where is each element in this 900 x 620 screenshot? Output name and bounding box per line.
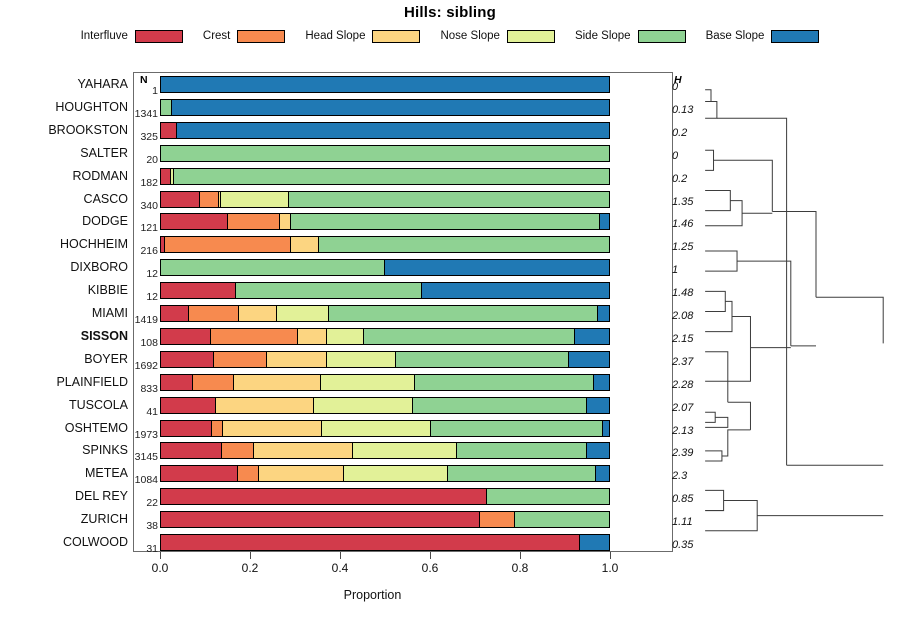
dendrogram-link xyxy=(705,412,715,422)
bar-segment xyxy=(327,352,396,367)
bar-segment xyxy=(161,306,189,321)
bar-segment xyxy=(161,77,609,92)
dendrogram-link xyxy=(728,402,751,430)
soil-series-label: DODGE xyxy=(0,214,128,228)
stacked-bar xyxy=(160,397,610,414)
stacked-bar xyxy=(160,534,610,551)
bar-segment xyxy=(228,214,280,229)
n-value: 31 xyxy=(128,543,158,555)
dendrogram-link xyxy=(705,191,730,211)
bar-segment xyxy=(291,214,600,229)
dendrogram-link xyxy=(772,212,816,298)
bar-segment xyxy=(580,535,609,550)
legend-item-label: Interfluve xyxy=(81,30,128,42)
bar-segment xyxy=(200,192,218,207)
legend-item-label: Base Slope xyxy=(706,30,765,42)
stacked-bar xyxy=(160,145,610,162)
bar-segment xyxy=(161,192,200,207)
soil-series-label: OSHTEMO xyxy=(0,421,128,435)
bar-segment xyxy=(161,535,580,550)
n-value: 3145 xyxy=(128,451,158,463)
bar-segment xyxy=(177,123,609,138)
n-value: 216 xyxy=(128,245,158,257)
soil-series-label: METEA xyxy=(0,466,128,480)
dendrogram xyxy=(690,64,900,564)
dendrogram-svg xyxy=(690,64,900,564)
bar-segment xyxy=(161,489,487,504)
axis-tick xyxy=(340,552,341,559)
legend: InterfluveCrestHead SlopeNose SlopeSide … xyxy=(0,26,900,46)
bar-segment xyxy=(212,421,223,436)
bar-segment xyxy=(161,352,214,367)
axis-tick-label: 0.2 xyxy=(230,561,270,575)
soil-series-label: PLAINFIELD xyxy=(0,375,128,389)
soil-series-label: HOUGHTON xyxy=(0,100,128,114)
legend-swatch xyxy=(372,30,420,43)
legend-item: Side Slope xyxy=(575,30,686,43)
soil-series-label: ZURICH xyxy=(0,512,128,526)
bar-segment xyxy=(575,329,609,344)
bar-segment xyxy=(161,169,171,184)
bar-segment xyxy=(161,375,193,390)
stacked-bar xyxy=(160,305,610,322)
bar-segment xyxy=(344,466,448,481)
bar-segment xyxy=(161,260,385,275)
legend-item-label: Side Slope xyxy=(575,30,631,42)
bar-segment xyxy=(314,398,413,413)
bar-segment xyxy=(211,329,298,344)
axis-tick xyxy=(250,552,251,559)
bar-segment xyxy=(594,375,609,390)
stacked-bar xyxy=(160,259,610,276)
n-value: 20 xyxy=(128,154,158,166)
stacked-bar xyxy=(160,236,610,253)
dendrogram-link xyxy=(714,160,773,211)
bar-segment xyxy=(322,421,431,436)
bar-segment xyxy=(487,489,609,504)
bar-segment xyxy=(327,329,364,344)
stacked-bar xyxy=(160,465,610,482)
dendrogram-link xyxy=(705,201,742,226)
stacked-bar xyxy=(160,420,610,437)
stacked-bar xyxy=(160,488,610,505)
bar-segment xyxy=(236,283,422,298)
axis-tick-label: 0.0 xyxy=(140,561,180,575)
dendrogram-link xyxy=(705,301,732,331)
stacked-bar xyxy=(160,442,610,459)
bar-segment xyxy=(223,421,322,436)
n-value: 1 xyxy=(128,85,158,97)
bar-segment xyxy=(289,192,609,207)
legend-swatch xyxy=(237,30,285,43)
bar-segment xyxy=(415,375,595,390)
n-value: 108 xyxy=(128,337,158,349)
bar-segment xyxy=(396,352,568,367)
n-value: 1084 xyxy=(128,474,158,486)
bar-segment xyxy=(238,466,259,481)
axis-tick xyxy=(610,552,611,559)
soil-series-label: KIBBIE xyxy=(0,283,128,297)
n-value: 38 xyxy=(128,520,158,532)
soil-series-label: DIXBORO xyxy=(0,260,128,274)
legend-swatch xyxy=(507,30,555,43)
dendrogram-link xyxy=(705,251,737,271)
bar-segment xyxy=(216,398,315,413)
bar-segment xyxy=(364,329,575,344)
legend-item: Nose Slope xyxy=(440,30,554,43)
bar-segment xyxy=(161,283,236,298)
bar-segment xyxy=(221,192,288,207)
dendrogram-link xyxy=(705,291,725,311)
bar-segment xyxy=(603,421,609,436)
bar-segment xyxy=(161,100,172,115)
axis-tick xyxy=(520,552,521,559)
soil-series-label: SISSON xyxy=(0,329,128,343)
bar-segment xyxy=(234,375,322,390)
n-value: 1973 xyxy=(128,429,158,441)
bar-segment xyxy=(457,443,587,458)
soil-series-label: SPINKS xyxy=(0,443,128,457)
bar-segment xyxy=(319,237,609,252)
axis-tick xyxy=(160,552,161,559)
soil-series-label: BROOKSTON xyxy=(0,123,128,137)
bar-segment xyxy=(161,398,216,413)
legend-item: Crest xyxy=(203,30,285,43)
legend-swatch xyxy=(771,30,819,43)
bar-segment xyxy=(161,466,238,481)
bar-segment xyxy=(587,443,609,458)
stacked-bar xyxy=(160,168,610,185)
bar-segment xyxy=(172,100,609,115)
dendrogram-link xyxy=(705,500,757,530)
dendrogram-link xyxy=(722,430,751,456)
bar-segment xyxy=(422,283,609,298)
soil-series-label: DEL REY xyxy=(0,489,128,503)
soil-series-label: YAHARA xyxy=(0,77,128,91)
bar-segment xyxy=(161,146,609,161)
axis-tick-label: 0.8 xyxy=(500,561,540,575)
stacked-bar xyxy=(160,76,610,93)
dendrogram-link xyxy=(705,90,711,102)
chart-root: Hills: sibling InterfluveCrestHead Slope… xyxy=(0,0,900,620)
bar-segment xyxy=(413,398,588,413)
dendrogram-link xyxy=(705,352,728,402)
legend-item-label: Nose Slope xyxy=(440,30,499,42)
n-value: 833 xyxy=(128,383,158,395)
legend-item: Interfluve xyxy=(81,30,183,43)
bar-segment xyxy=(329,306,598,321)
bar-segment xyxy=(431,421,603,436)
bar-segment xyxy=(385,260,609,275)
bar-segment xyxy=(280,214,291,229)
dendrogram-link xyxy=(705,490,723,510)
bar-segment xyxy=(161,421,212,436)
soil-series-label: COLWOOD xyxy=(0,535,128,549)
stacked-bar xyxy=(160,122,610,139)
n-value: 1692 xyxy=(128,360,158,372)
bar-segment xyxy=(193,375,234,390)
bar-segment xyxy=(598,306,609,321)
axis-tick-label: 0.6 xyxy=(410,561,450,575)
bar-segment xyxy=(596,466,609,481)
axis-tick xyxy=(430,552,431,559)
bar-segment xyxy=(189,306,239,321)
bar-segment xyxy=(298,329,327,344)
bar-segment xyxy=(480,512,515,527)
legend-item-label: Head Slope xyxy=(305,30,365,42)
page-title: Hills: sibling xyxy=(0,4,900,21)
n-value: 41 xyxy=(128,406,158,418)
legend-item: Head Slope xyxy=(305,30,420,43)
n-value: 1341 xyxy=(128,108,158,120)
stacked-bar xyxy=(160,351,610,368)
soil-series-label: TUSCOLA xyxy=(0,398,128,412)
bar-segment xyxy=(587,398,609,413)
stacked-bar xyxy=(160,374,610,391)
bar-segment xyxy=(161,214,228,229)
axis-tick-label: 0.4 xyxy=(320,561,360,575)
stacked-bar xyxy=(160,191,610,208)
n-value: 182 xyxy=(128,177,158,189)
dendrogram-link xyxy=(816,297,883,343)
legend-item-label: Crest xyxy=(203,30,230,42)
bar-segment xyxy=(321,375,414,390)
n-value: 325 xyxy=(128,131,158,143)
bar-segment xyxy=(174,169,609,184)
n-value: 121 xyxy=(128,222,158,234)
bar-segment xyxy=(161,443,222,458)
plot-area xyxy=(160,72,610,552)
legend-swatch xyxy=(638,30,686,43)
n-value: 12 xyxy=(128,291,158,303)
bar-segment xyxy=(214,352,267,367)
soil-series-label: CASCO xyxy=(0,192,128,206)
bar-segment xyxy=(161,123,177,138)
n-value: 22 xyxy=(128,497,158,509)
legend-swatch xyxy=(135,30,183,43)
bar-segment xyxy=(161,329,211,344)
dendrogram-link xyxy=(737,261,791,346)
bar-segment xyxy=(161,512,480,527)
bar-segment xyxy=(239,306,277,321)
bar-segment xyxy=(291,237,319,252)
stacked-bar xyxy=(160,511,610,528)
bar-segment xyxy=(353,443,456,458)
x-axis-title: Proportion xyxy=(0,588,745,602)
bar-segment xyxy=(515,512,609,527)
soil-series-label: MIAMI xyxy=(0,306,128,320)
soil-series-label: HOCHHEIM xyxy=(0,237,128,251)
bar-segment xyxy=(254,443,353,458)
soil-series-label: BOYER xyxy=(0,352,128,366)
bar-segment xyxy=(259,466,344,481)
stacked-bar xyxy=(160,213,610,230)
n-value: 340 xyxy=(128,200,158,212)
dendrogram-link xyxy=(705,150,713,170)
n-value: 12 xyxy=(128,268,158,280)
bar-segment xyxy=(222,443,253,458)
bar-segment xyxy=(600,214,609,229)
dendrogram-link xyxy=(717,118,787,465)
stacked-bar xyxy=(160,99,610,116)
bar-segment xyxy=(267,352,327,367)
bar-segment xyxy=(277,306,329,321)
axis-tick-label: 1.0 xyxy=(590,561,630,575)
soil-series-label: RODMAN xyxy=(0,169,128,183)
bar-segment xyxy=(448,466,596,481)
bar-segment xyxy=(569,352,609,367)
stacked-bar xyxy=(160,282,610,299)
dendrogram-link xyxy=(705,451,722,461)
n-value: 1419 xyxy=(128,314,158,326)
stacked-bar xyxy=(160,328,610,345)
soil-series-label: SALTER xyxy=(0,146,128,160)
dendrogram-link xyxy=(705,101,717,118)
bar-segment xyxy=(165,237,291,252)
legend-item: Base Slope xyxy=(706,30,820,43)
